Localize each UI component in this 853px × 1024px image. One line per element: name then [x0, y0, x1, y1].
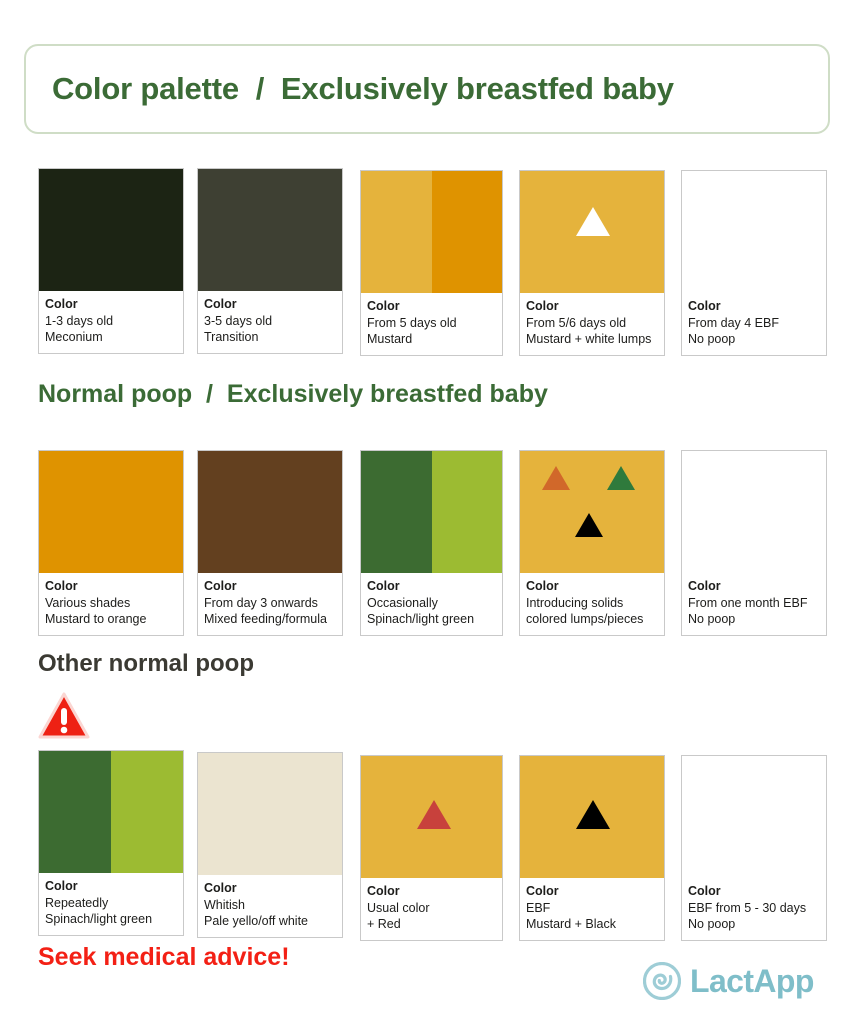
card-caption: Color1-3 days oldMeconium — [39, 291, 183, 353]
color-card[interactable]: Color1-3 days oldMeconium — [38, 168, 184, 354]
color-swatch — [39, 451, 183, 573]
color-swatch — [361, 756, 502, 878]
section-heading-other-normal-poop: Other normal poop — [38, 650, 254, 678]
swatch-fill — [361, 171, 432, 293]
color-card[interactable]: ColorVarious shadesMustard to orange — [38, 450, 184, 636]
card-caption-line-2: Pale yello/off white — [204, 913, 336, 930]
title-banner: Color palette / Exclusively breastfed ba… — [24, 44, 830, 134]
color-swatch — [198, 753, 342, 875]
card-caption: ColorUsual color+ Red — [361, 878, 502, 940]
lump-triangle-marker — [542, 466, 570, 490]
swatch-fill — [39, 169, 183, 291]
card-caption-line-2: Meconium — [45, 329, 177, 346]
card-caption-line-1: Usual color — [367, 900, 496, 917]
swatch-fill — [682, 171, 826, 293]
card-caption-line-1: From day 3 onwards — [204, 595, 336, 612]
card-caption: ColorFrom one month EBFNo poop — [682, 573, 826, 635]
lactapp-logo-text: LactApp — [690, 963, 814, 1000]
card-caption-line-2: Mixed feeding/formula — [204, 611, 336, 628]
card-caption-line-2: Mustard to orange — [45, 611, 177, 628]
color-swatch — [520, 451, 664, 573]
color-card[interactable]: Color3-5 days oldTransition — [197, 168, 343, 354]
card-caption-title: Color — [367, 578, 496, 595]
color-card[interactable]: ColorEBF from 5 - 30 daysNo poop — [681, 755, 827, 941]
color-swatch — [682, 451, 826, 573]
lactapp-logo: LactApp — [643, 962, 814, 1000]
card-caption: ColorWhitishPale yello/off white — [198, 875, 342, 937]
card-caption-line-1: Whitish — [204, 897, 336, 914]
color-swatch — [682, 171, 826, 293]
lump-triangle-marker — [607, 466, 635, 490]
card-caption-line-1: Repeatedly — [45, 895, 177, 912]
color-swatch — [198, 169, 342, 291]
card-caption-line-2: Mustard + white lumps — [526, 331, 658, 348]
color-card[interactable]: ColorFrom one month EBFNo poop — [681, 450, 827, 636]
card-caption-title: Color — [367, 883, 496, 900]
color-card[interactable]: ColorUsual color+ Red — [360, 755, 503, 941]
card-caption: ColorFrom 5 days oldMustard — [361, 293, 502, 355]
card-caption: ColorIntroducing solidscolored lumps/pie… — [520, 573, 664, 635]
color-card[interactable]: ColorEBFMustard + Black — [519, 755, 665, 941]
color-swatch — [39, 169, 183, 291]
card-caption-line-1: EBF from 5 - 30 days — [688, 900, 820, 917]
lump-triangle-marker — [417, 800, 451, 829]
card-caption-line-2: colored lumps/pieces — [526, 611, 658, 628]
card-caption: ColorVarious shadesMustard to orange — [39, 573, 183, 635]
card-caption-line-1: From day 4 EBF — [688, 315, 820, 332]
color-card[interactable]: ColorOccasionallySpinach/light green — [360, 450, 503, 636]
swatch-fill — [682, 451, 826, 573]
card-caption: Color3-5 days oldTransition — [198, 291, 342, 353]
card-caption-title: Color — [526, 578, 658, 595]
swatch-fill — [39, 451, 183, 573]
card-caption-title: Color — [204, 880, 336, 897]
color-card[interactable]: ColorRepeatedlySpinach/light green — [38, 750, 184, 936]
card-caption-line-1: 1-3 days old — [45, 313, 177, 330]
card-caption-line-1: Introducing solids — [526, 595, 658, 612]
color-swatch — [361, 171, 502, 293]
card-caption-title: Color — [367, 298, 496, 315]
card-caption: ColorFrom 5/6 days oldMustard + white lu… — [520, 293, 664, 355]
section-heading-seek-medical-advice: Seek medical advice! — [38, 943, 290, 972]
color-card[interactable]: ColorFrom day 3 onwardsMixed feeding/for… — [197, 450, 343, 636]
card-caption-title: Color — [45, 578, 177, 595]
card-caption-title: Color — [204, 578, 336, 595]
card-caption: ColorEBFMustard + Black — [520, 878, 664, 940]
card-caption-title: Color — [45, 878, 177, 895]
card-caption: ColorOccasionallySpinach/light green — [361, 573, 502, 635]
card-caption-title: Color — [688, 578, 820, 595]
card-caption-line-1: From 5/6 days old — [526, 315, 658, 332]
lactapp-spiral-icon — [643, 962, 681, 1000]
color-card[interactable]: ColorFrom day 4 EBFNo poop — [681, 170, 827, 356]
warning-triangle-icon — [38, 692, 90, 740]
card-caption-line-1: 3-5 days old — [204, 313, 336, 330]
color-swatch — [198, 451, 342, 573]
card-caption-title: Color — [688, 298, 820, 315]
color-card[interactable]: ColorFrom 5 days oldMustard — [360, 170, 503, 356]
card-caption-line-1: Occasionally — [367, 595, 496, 612]
card-caption-line-2: Transition — [204, 329, 336, 346]
card-caption-line-1: From one month EBF — [688, 595, 820, 612]
section-heading-normal-poop: Normal poop / Exclusively breastfed baby — [38, 380, 548, 409]
color-card[interactable]: ColorIntroducing solidscolored lumps/pie… — [519, 450, 665, 636]
color-swatch — [520, 171, 664, 293]
swatch-fill — [39, 751, 111, 873]
card-caption-line-2: + Red — [367, 916, 496, 933]
poop-color-palette-infographic: Color palette / Exclusively breastfed ba… — [0, 0, 853, 1024]
color-swatch — [361, 451, 502, 573]
card-caption-line-1: From 5 days old — [367, 315, 496, 332]
card-caption: ColorFrom day 3 onwardsMixed feeding/for… — [198, 573, 342, 635]
card-caption: ColorRepeatedlySpinach/light green — [39, 873, 183, 935]
card-caption-title: Color — [204, 296, 336, 313]
swatch-fill — [432, 171, 503, 293]
swatch-fill — [682, 756, 826, 878]
card-caption-line-1: Various shades — [45, 595, 177, 612]
card-caption-line-2: Spinach/light green — [367, 611, 496, 628]
color-swatch — [39, 751, 183, 873]
swatch-fill — [432, 451, 503, 573]
lump-triangle-marker — [575, 513, 603, 537]
color-swatch — [682, 756, 826, 878]
card-caption-title: Color — [45, 296, 177, 313]
card-caption: ColorFrom day 4 EBFNo poop — [682, 293, 826, 355]
lump-triangle-marker — [576, 207, 610, 236]
card-caption-line-2: No poop — [688, 916, 820, 933]
swatch-fill — [361, 451, 432, 573]
card-caption-line-2: No poop — [688, 611, 820, 628]
card-caption-title: Color — [526, 883, 658, 900]
swatch-fill — [111, 751, 183, 873]
swatch-fill — [198, 169, 342, 291]
card-caption-line-2: No poop — [688, 331, 820, 348]
color-card[interactable]: ColorFrom 5/6 days oldMustard + white lu… — [519, 170, 665, 356]
card-caption-line-1: EBF — [526, 900, 658, 917]
card-caption: ColorEBF from 5 - 30 daysNo poop — [682, 878, 826, 940]
swatch-fill — [198, 451, 342, 573]
card-caption-line-2: Mustard — [367, 331, 496, 348]
card-caption-title: Color — [526, 298, 658, 315]
color-swatch — [520, 756, 664, 878]
swatch-fill — [198, 753, 342, 875]
card-caption-title: Color — [688, 883, 820, 900]
color-card[interactable]: ColorWhitishPale yello/off white — [197, 752, 343, 938]
lump-triangle-marker — [576, 800, 610, 829]
page-title: Color palette / Exclusively breastfed ba… — [26, 71, 674, 107]
card-caption-line-2: Spinach/light green — [45, 911, 177, 928]
card-caption-line-2: Mustard + Black — [526, 916, 658, 933]
